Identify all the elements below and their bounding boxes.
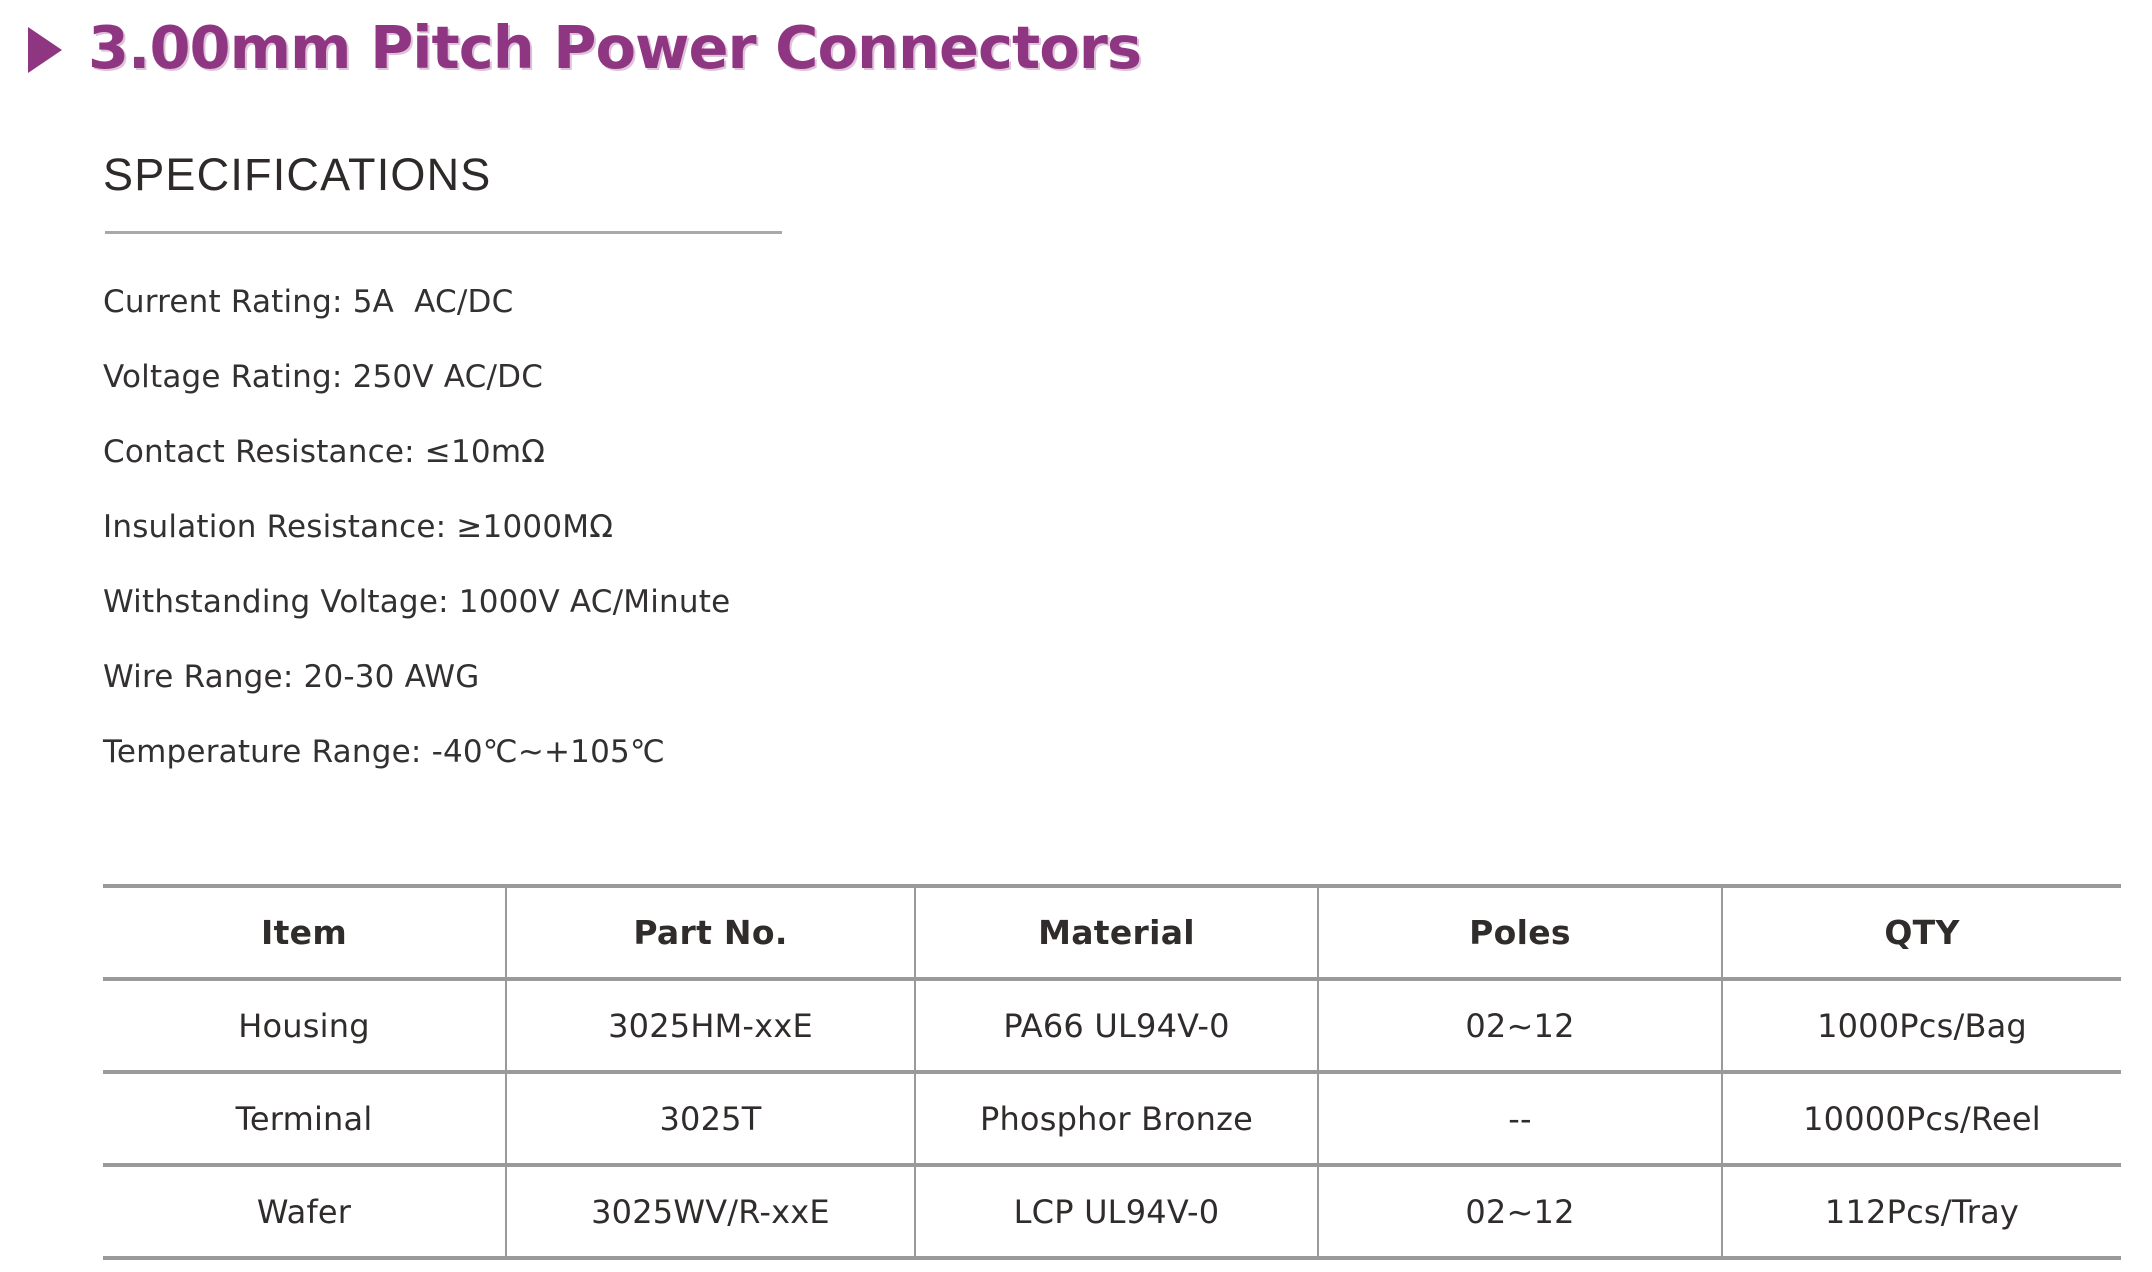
cell-qty: 10000Pcs/Reel (1722, 1072, 2121, 1165)
page-title: 3.00mm Pitch Power Connectors (88, 18, 1141, 77)
column-header-poles: Poles (1318, 886, 1722, 979)
cell-material: PA66 UL94V-0 (915, 979, 1318, 1072)
spec-item-temperature-range: Temperature Range: -40℃~+105℃ (103, 715, 1203, 790)
cell-poles: 02~12 (1318, 1165, 1722, 1258)
specifications-list: Current Rating: 5A AC/DC Voltage Rating:… (103, 265, 1203, 790)
cell-poles: 02~12 (1318, 979, 1722, 1072)
spec-item-insulation-resistance: Insulation Resistance: ≥1000MΩ (103, 490, 1203, 565)
spec-item-wire-range: Wire Range: 20-30 AWG (103, 640, 1203, 715)
cell-part-no: 3025T (506, 1072, 915, 1165)
table-header-row: Item Part No. Material Poles QTY (103, 886, 2121, 979)
table-row: Terminal 3025T Phosphor Bronze -- 10000P… (103, 1072, 2121, 1165)
cell-material: LCP UL94V-0 (915, 1165, 1318, 1258)
cell-qty: 112Pcs/Tray (1722, 1165, 2121, 1258)
parts-table: Item Part No. Material Poles QTY Housing… (103, 884, 2121, 1260)
table-row: Wafer 3025WV/R-xxE LCP UL94V-0 02~12 112… (103, 1165, 2121, 1258)
table-row: Housing 3025HM-xxE PA66 UL94V-0 02~12 10… (103, 979, 2121, 1072)
column-header-item: Item (103, 886, 506, 979)
cell-item: Wafer (103, 1165, 506, 1258)
cell-poles: -- (1318, 1072, 1722, 1165)
spec-item-current-rating: Current Rating: 5A AC/DC (103, 265, 1203, 340)
cell-material: Phosphor Bronze (915, 1072, 1318, 1165)
cell-item: Housing (103, 979, 506, 1072)
column-header-part-no: Part No. (506, 886, 915, 979)
column-header-qty: QTY (1722, 886, 2121, 979)
specifications-heading: SPECIFICATIONS (103, 152, 492, 197)
page-title-row: 3.00mm Pitch Power Connectors (28, 18, 1141, 77)
cell-part-no: 3025HM-xxE (506, 979, 915, 1072)
spec-item-voltage-rating: Voltage Rating: 250V AC/DC (103, 340, 1203, 415)
cell-qty: 1000Pcs/Bag (1722, 979, 2121, 1072)
spec-item-withstanding-voltage: Withstanding Voltage: 1000V AC/Minute (103, 565, 1203, 640)
triangle-right-icon (28, 27, 62, 73)
column-header-material: Material (915, 886, 1318, 979)
spec-item-contact-resistance: Contact Resistance: ≤10mΩ (103, 415, 1203, 490)
specifications-divider (105, 231, 782, 234)
cell-item: Terminal (103, 1072, 506, 1165)
cell-part-no: 3025WV/R-xxE (506, 1165, 915, 1258)
